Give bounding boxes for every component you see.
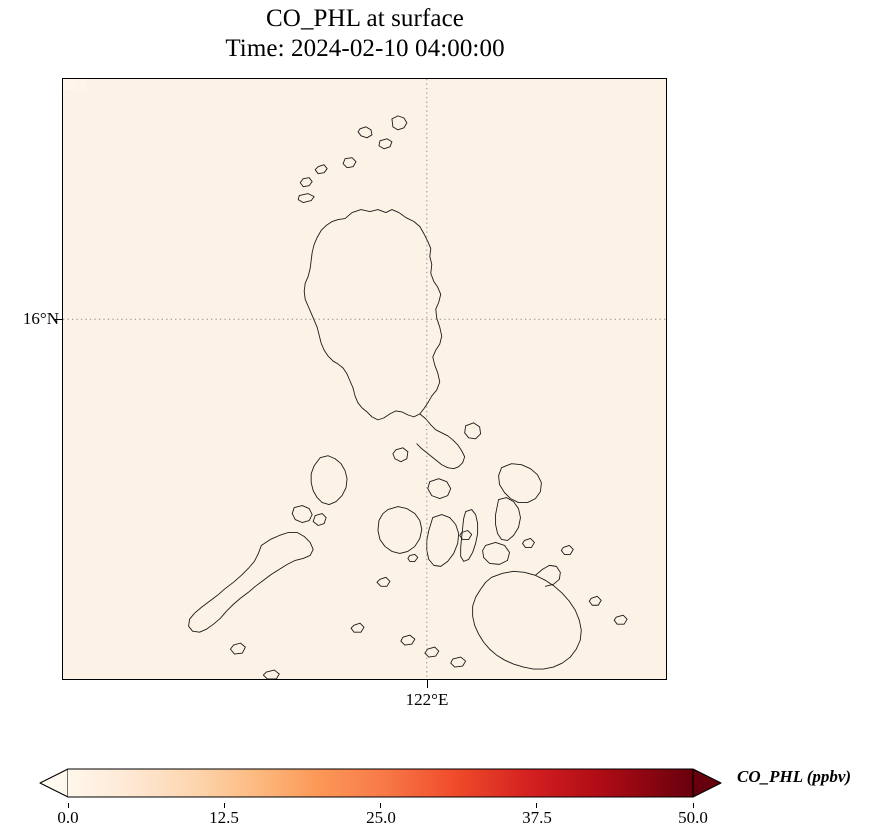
lon-tick-mark-122e <box>427 680 428 688</box>
colorbar-tick-row: 0.0 12.5 25.0 37.5 50.0 <box>0 803 885 833</box>
colorbar-axis-label: CO_PHL (ppbv) <box>737 767 851 787</box>
colorbar-tick-label-3: 37.5 <box>522 808 552 828</box>
figure-title: CO_PHL at surface Time: 2024-02-10 04:00… <box>0 4 730 63</box>
map-plot-area[interactable] <box>62 78 667 680</box>
colorbar[interactable] <box>40 763 694 803</box>
lat-lon-gridlines <box>63 79 666 679</box>
lon-tick-label-122e: 122°E <box>406 690 449 710</box>
lat-tick-label-16n: 16°N <box>23 309 59 329</box>
colorbar-tick-label-2: 25.0 <box>366 808 396 828</box>
colorbar-tick-label-0: 0.0 <box>57 808 78 828</box>
figure-title-line-2: Time: 2024-02-10 04:00:00 <box>0 34 730 64</box>
colorbar-tick-label-1: 12.5 <box>209 808 239 828</box>
colorbar-tick-label-4: 50.0 <box>678 808 708 828</box>
colorbar-extend-left <box>40 769 68 797</box>
colorbar-extend-right <box>693 769 721 797</box>
colorbar-gradient-bar <box>68 769 693 797</box>
figure-title-line-1: CO_PHL at surface <box>0 4 730 34</box>
